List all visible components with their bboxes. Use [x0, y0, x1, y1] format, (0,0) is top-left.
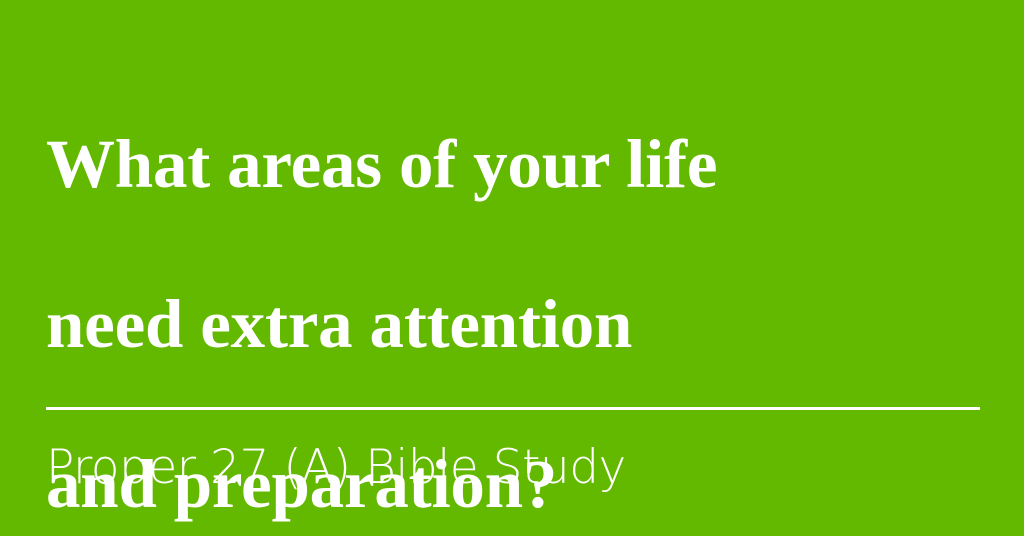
subtitle-label: Proper 27 (A) Bible Study	[46, 440, 626, 496]
quote-card: What areas of your life need extra atten…	[0, 0, 1024, 536]
headline-line-1: What areas of your life	[46, 124, 986, 204]
horizontal-rule	[46, 407, 980, 410]
headline-line-2: need extra attention	[46, 284, 986, 364]
